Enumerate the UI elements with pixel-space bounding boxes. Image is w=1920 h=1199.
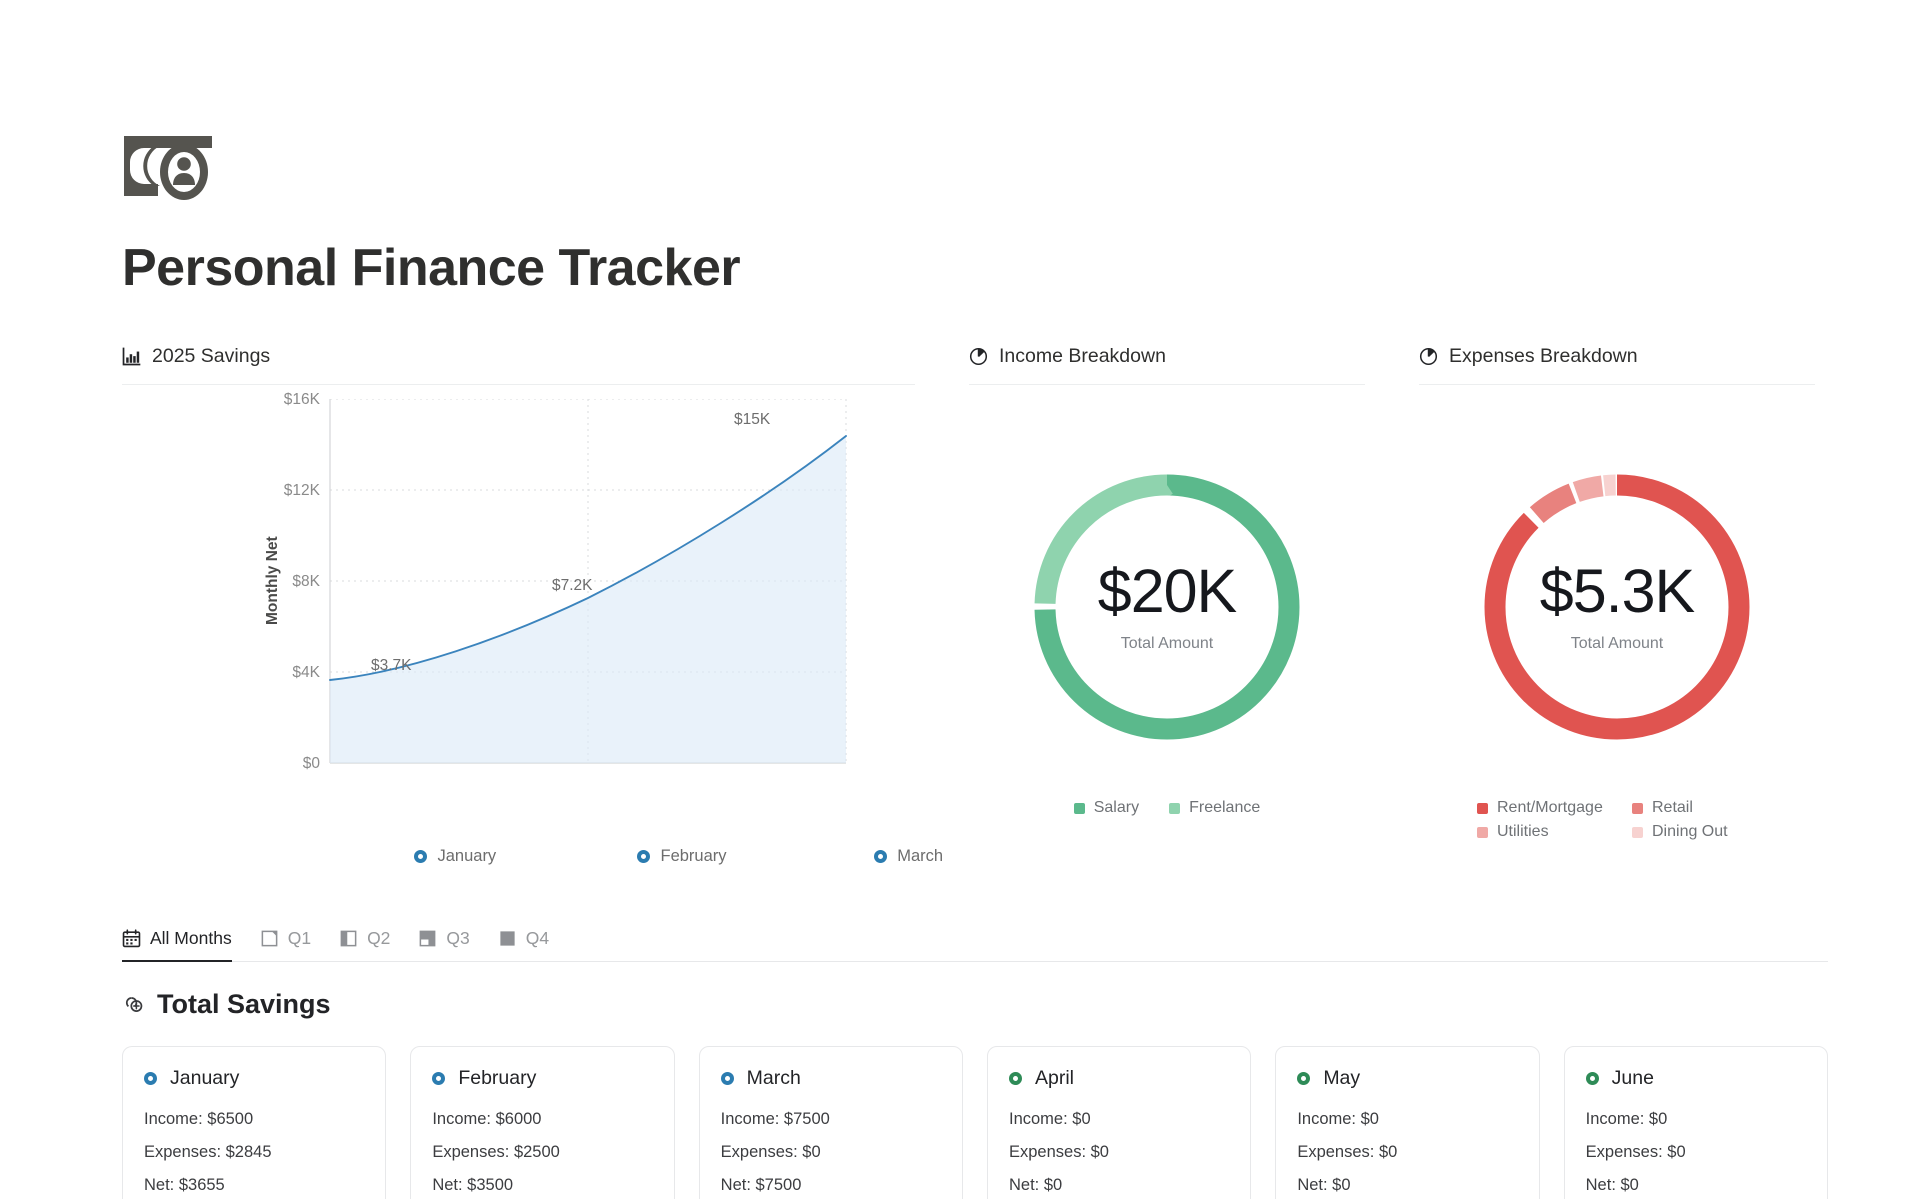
panel-income: Income Breakdown $20K Total Amoun <box>969 344 1365 874</box>
panel-expenses: Expenses Breakdown <box>1419 344 1815 874</box>
expenses-legend-retail[interactable]: Retail <box>1632 799 1757 817</box>
month-card-february[interactable]: February Income: $6000 Expenses: $2500 N… <box>410 1046 674 1199</box>
quarter-one-icon <box>260 929 279 948</box>
point-label-march: $15K <box>734 411 770 429</box>
month-expenses: Expenses: $0 <box>721 1143 941 1162</box>
month-income: Income: $6500 <box>144 1110 364 1129</box>
month-card-title: January <box>170 1067 239 1090</box>
x-legend-january-label: January <box>437 847 496 866</box>
total-savings-header: Total Savings <box>122 989 1920 1020</box>
tab-q1-label: Q1 <box>288 928 311 949</box>
panel-expenses-title: Expenses Breakdown <box>1449 345 1638 368</box>
expenses-legend-retail-label: Retail <box>1652 799 1693 817</box>
month-expenses: Expenses: $0 <box>1586 1143 1806 1162</box>
tab-q4-label: Q4 <box>526 928 549 949</box>
month-dot-icon <box>1009 1072 1022 1085</box>
tab-q1[interactable]: Q1 <box>260 928 311 961</box>
expenses-legend: Rent/Mortgage Retail Utilities Dining Ou… <box>1467 799 1767 841</box>
month-dot-icon <box>1586 1072 1599 1085</box>
month-net: Net: $3500 <box>432 1176 652 1195</box>
expenses-legend-dining[interactable]: Dining Out <box>1632 823 1757 841</box>
page-root: Personal Finance Tracker 2025 Savings <box>0 0 1920 1199</box>
expenses-legend-rent-label: Rent/Mortgage <box>1497 799 1603 817</box>
month-dot-icon <box>721 1072 734 1085</box>
dining-out-swatch-icon <box>1632 827 1643 838</box>
income-legend-freelance-label: Freelance <box>1189 799 1260 817</box>
tab-q2[interactable]: Q2 <box>339 928 390 961</box>
tab-q3-label: Q3 <box>446 928 469 949</box>
expenses-legend-utilities-label: Utilities <box>1497 823 1549 841</box>
tab-q3[interactable]: Q3 <box>418 928 469 961</box>
month-card-title: April <box>1035 1067 1074 1090</box>
x-legend-january[interactable]: January <box>342 847 569 866</box>
bar-chart-icon <box>122 347 141 366</box>
month-expenses: Expenses: $2500 <box>432 1143 652 1162</box>
point-label-january: $3.7K <box>371 657 412 675</box>
point-label-february: $7.2K <box>552 577 593 595</box>
month-card-june[interactable]: June Income: $0 Expenses: $0 Net: $0 <box>1564 1046 1828 1199</box>
month-expenses: Expenses: $2845 <box>144 1143 364 1162</box>
x-axis-legend: January February March <box>342 847 1022 866</box>
quarter-two-icon <box>339 929 358 948</box>
month-card-may[interactable]: May Income: $0 Expenses: $0 Net: $0 <box>1275 1046 1539 1199</box>
panel-savings: 2025 Savings $16K $12K $8K $4K $0 Monthl… <box>122 344 915 874</box>
month-card-april[interactable]: April Income: $0 Expenses: $0 Net: $0 <box>987 1046 1251 1199</box>
page-title: Personal Finance Tracker <box>122 242 1920 294</box>
month-card-header: May <box>1297 1067 1517 1090</box>
quarter-tabs: All Months Q1 Q2 <box>122 912 1828 962</box>
month-net: Net: $0 <box>1297 1176 1517 1195</box>
salary-swatch-icon <box>1074 803 1085 814</box>
legend-dot-icon <box>874 850 887 863</box>
expenses-legend-rent[interactable]: Rent/Mortgage <box>1477 799 1602 817</box>
expenses-donut-ring: $5.3K Total Amount <box>1477 467 1757 747</box>
month-dot-icon <box>432 1072 445 1085</box>
tab-all-months-label: All Months <box>150 928 232 949</box>
month-card-header: June <box>1586 1067 1806 1090</box>
rent-swatch-icon <box>1477 803 1488 814</box>
expenses-legend-utilities[interactable]: Utilities <box>1477 823 1602 841</box>
money-person-icon <box>122 132 226 204</box>
month-card-header: April <box>1009 1067 1229 1090</box>
month-card-title: March <box>747 1067 801 1090</box>
month-card-header: February <box>432 1067 652 1090</box>
income-legend-salary[interactable]: Salary <box>1074 799 1139 817</box>
total-savings-title: Total Savings <box>157 989 331 1020</box>
month-net: Net: $0 <box>1009 1176 1229 1195</box>
income-legend: Salary Freelance <box>1002 799 1332 817</box>
panel-savings-title: 2025 Savings <box>152 345 270 368</box>
expenses-donut-chart: $5.3K Total Amount Rent/Mortgage Retail <box>1419 399 1815 874</box>
x-legend-february[interactable]: February <box>569 847 796 866</box>
month-income: Income: $7500 <box>721 1110 941 1129</box>
income-legend-freelance[interactable]: Freelance <box>1169 799 1260 817</box>
pie-chart-icon <box>969 347 988 366</box>
month-card-march[interactable]: March Income: $7500 Expenses: $0 Net: $7… <box>699 1046 963 1199</box>
panel-income-title: Income Breakdown <box>999 345 1166 368</box>
tab-q4[interactable]: Q4 <box>498 928 549 961</box>
dashboard-panels: 2025 Savings $16K $12K $8K $4K $0 Monthl… <box>0 294 1920 874</box>
month-net: Net: $3655 <box>144 1176 364 1195</box>
x-legend-march-label: March <box>897 847 943 866</box>
month-net: Net: $7500 <box>721 1176 941 1195</box>
month-expenses: Expenses: $0 <box>1297 1143 1517 1162</box>
page-header: Personal Finance Tracker <box>0 0 1920 294</box>
income-donut-chart: $20K Total Amount Salary Freelance <box>969 399 1365 874</box>
pie-chart-icon <box>1419 347 1438 366</box>
panel-expenses-header: Expenses Breakdown <box>1419 344 1815 385</box>
month-income: Income: $0 <box>1586 1110 1806 1129</box>
panel-income-header: Income Breakdown <box>969 344 1365 385</box>
income-donut-ring: $20K Total Amount <box>1027 467 1307 747</box>
tab-all-months[interactable]: All Months <box>122 928 232 961</box>
month-card-title: May <box>1323 1067 1360 1090</box>
month-card-title: June <box>1612 1067 1654 1090</box>
month-expenses: Expenses: $0 <box>1009 1143 1229 1162</box>
expenses-legend-dining-label: Dining Out <box>1652 823 1728 841</box>
freelance-swatch-icon <box>1169 803 1180 814</box>
month-net: Net: $0 <box>1586 1176 1806 1195</box>
income-legend-salary-label: Salary <box>1094 799 1139 817</box>
utilities-swatch-icon <box>1477 827 1488 838</box>
month-income: Income: $0 <box>1297 1110 1517 1129</box>
coins-icon <box>122 993 145 1016</box>
legend-dot-icon <box>414 850 427 863</box>
month-card-header: January <box>144 1067 364 1090</box>
quarter-four-icon <box>498 929 517 948</box>
quarter-three-icon <box>418 929 437 948</box>
month-cards: January Income: $6500 Expenses: $2845 Ne… <box>122 1046 1828 1199</box>
month-card-january[interactable]: January Income: $6500 Expenses: $2845 Ne… <box>122 1046 386 1199</box>
month-card-title: February <box>458 1067 536 1090</box>
calendar-icon <box>122 929 141 948</box>
month-income: Income: $6000 <box>432 1110 652 1129</box>
retail-swatch-icon <box>1632 803 1643 814</box>
x-legend-february-label: February <box>660 847 726 866</box>
month-income: Income: $0 <box>1009 1110 1229 1129</box>
month-dot-icon <box>144 1072 157 1085</box>
tab-q2-label: Q2 <box>367 928 390 949</box>
legend-dot-icon <box>637 850 650 863</box>
month-card-header: March <box>721 1067 941 1090</box>
panel-savings-header: 2025 Savings <box>122 344 915 385</box>
month-dot-icon <box>1297 1072 1310 1085</box>
savings-area-chart: $16K $12K $8K $4K $0 Monthly Net <box>122 399 915 874</box>
